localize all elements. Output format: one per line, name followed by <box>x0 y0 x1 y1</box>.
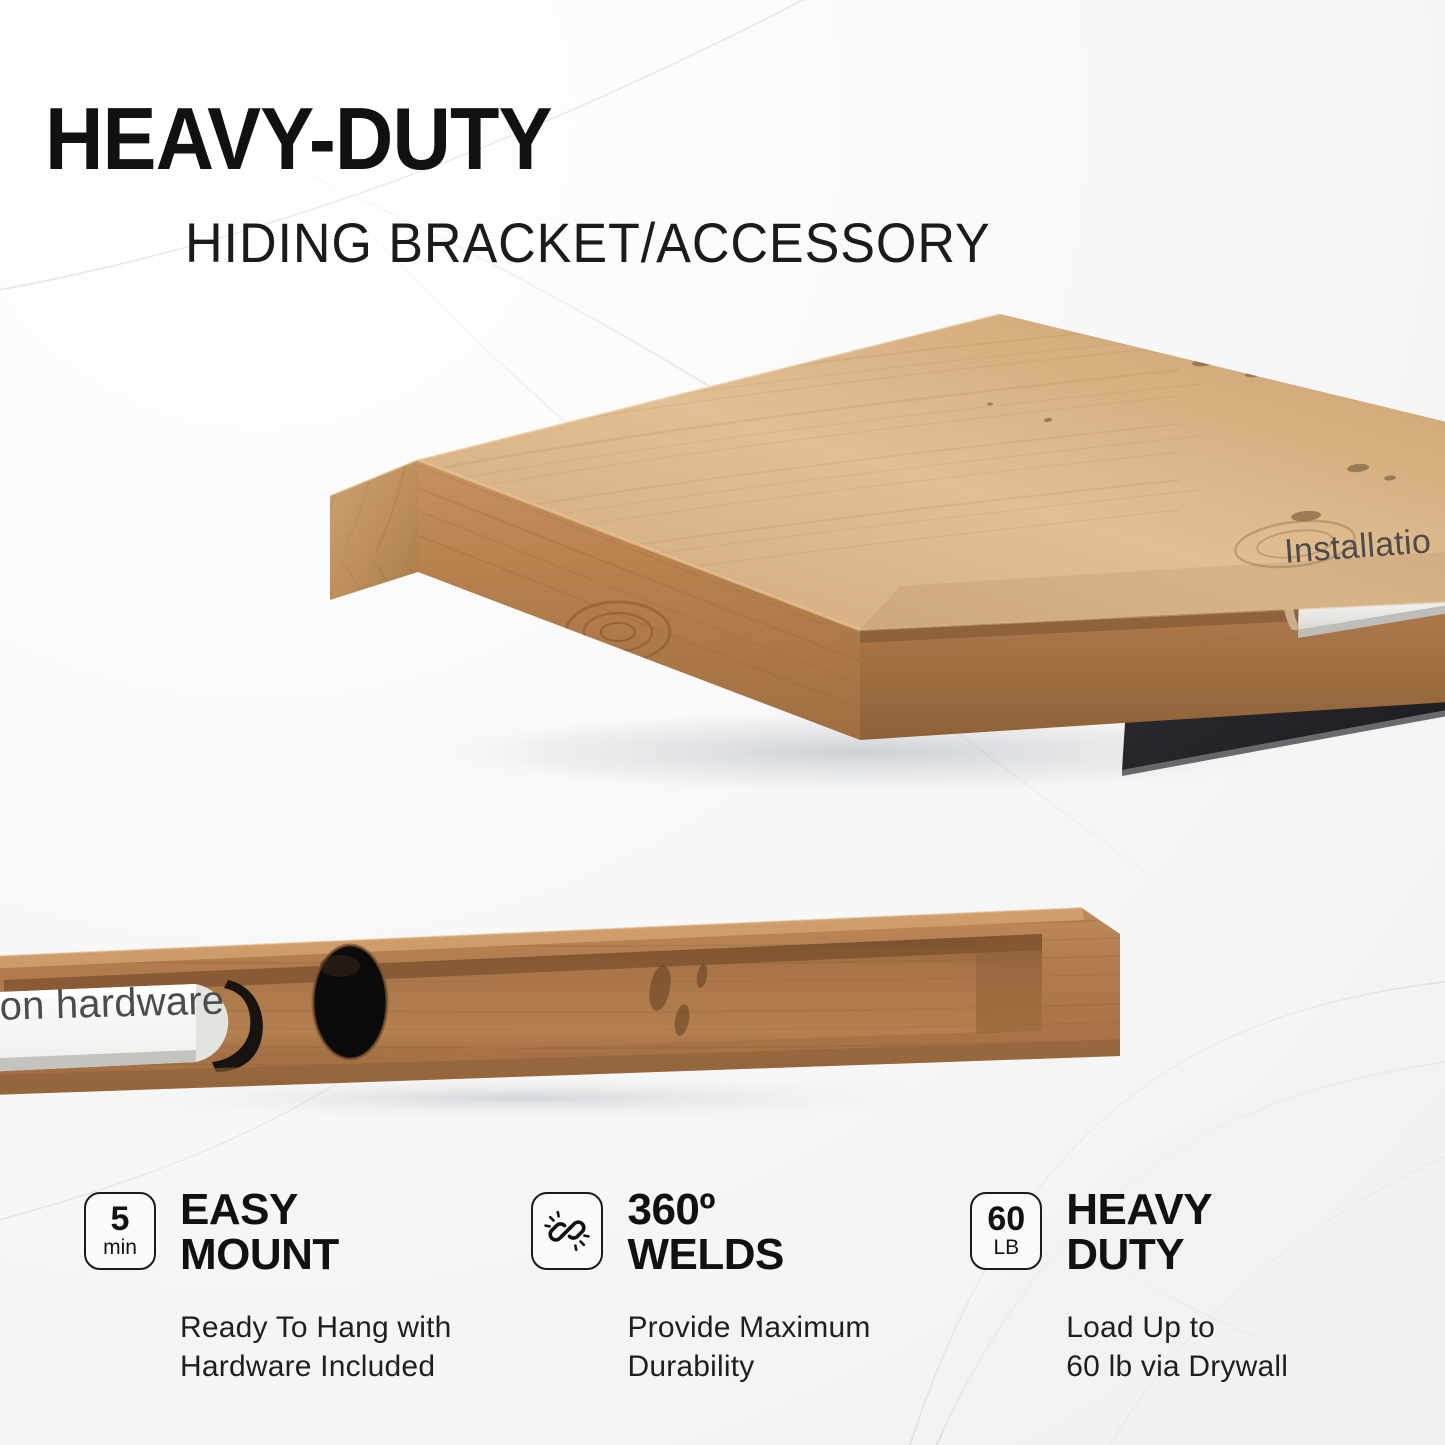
badge-number: 5 <box>111 1203 130 1235</box>
feature-row: 5 min EASY MOUNT Ready To Hang with Hard… <box>0 1188 1445 1428</box>
feature-easy-mount: 5 min EASY MOUNT Ready To Hang with Hard… <box>0 1188 521 1428</box>
feature-description: Ready To Hang with Hardware Included <box>180 1308 452 1387</box>
badge-unit: min <box>103 1237 137 1259</box>
feature-headline: HEAVY DUTY <box>1066 1188 1288 1278</box>
weight-badge: 60 LB <box>970 1192 1042 1270</box>
mounting-hole <box>313 945 387 1059</box>
feature-description: Load Up to 60 lb via Drywall <box>1066 1308 1288 1387</box>
feature-headline: EASY MOUNT <box>180 1188 452 1278</box>
feature-360-welds: 360º WELDS Provide Maximum Durability <box>521 1188 964 1428</box>
feature-heavy-duty: 60 LB HEAVY DUTY Load Up to 60 lb via Dr… <box>964 1188 1445 1428</box>
badge-number: 60 <box>987 1203 1025 1235</box>
stopwatch-badge: 5 min <box>84 1192 156 1270</box>
page-title: HEAVY-DUTY <box>45 95 552 183</box>
underside-product-image <box>0 880 1120 1130</box>
chain-link-weld-icon <box>544 1208 590 1254</box>
product-marketing-image: HEAVY-DUTY HIDING BRACKET/ACCESSORY <box>0 0 1445 1445</box>
chain-link-weld-badge <box>531 1192 603 1270</box>
badge-unit: LB <box>993 1237 1019 1259</box>
page-subtitle: HIDING BRACKET/ACCESSORY <box>185 215 991 271</box>
feature-description: Provide Maximum Durability <box>627 1308 870 1387</box>
hero-product-image <box>300 300 1445 820</box>
feature-headline: 360º WELDS <box>627 1188 870 1278</box>
